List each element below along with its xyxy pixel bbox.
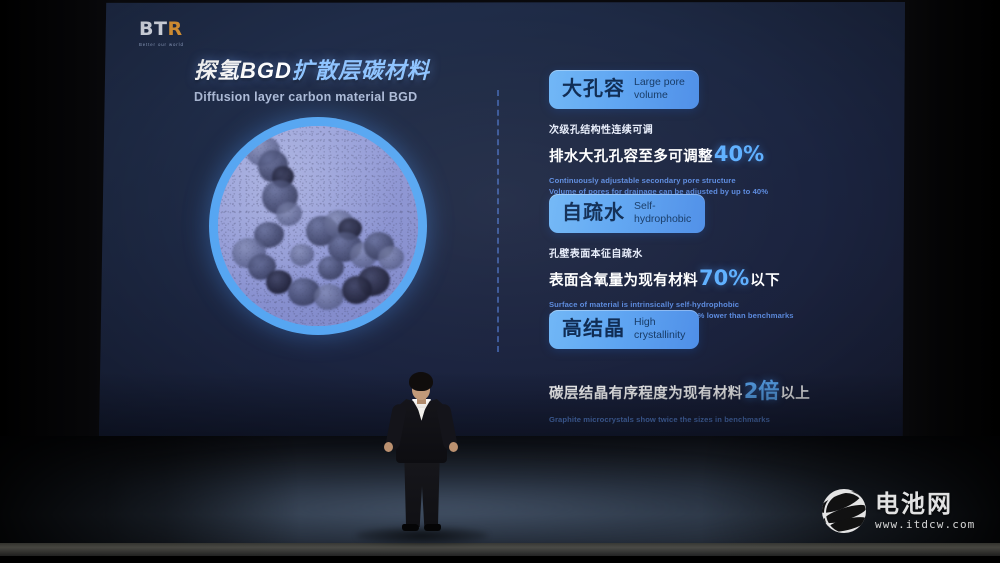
title-cn-part1: 探氢 [194, 58, 240, 83]
watermark-name: 电池网 [875, 493, 975, 517]
presenter-hair [409, 372, 433, 391]
globe-icon [822, 489, 866, 533]
stage-front-edge-shadow [0, 556, 1000, 563]
feature-en-line1: Surface of material is intrinsically sel… [549, 299, 901, 310]
feature-card-self-hydrophobic: 自疏水 Self- hydrophobic 孔壁表面本征自疏水 表面含氧量为现有… [549, 194, 901, 321]
title-cn-part3: 扩散层碳材料 [292, 58, 430, 83]
feature-pill-cn: 大孔容 [562, 79, 625, 99]
feature-pill-cn: 高结晶 [562, 319, 625, 339]
slide-title-block: 探氢BGD扩散层碳材料 Diffusion layer carbon mater… [194, 60, 430, 104]
feature-headline-suffix: 以上 [780, 382, 810, 403]
feature-subhead-cn: 次级孔结构性连续可调 [549, 121, 901, 136]
feature-headline-prefix: 表面含氧量为现有材料 [549, 269, 698, 290]
feature-headline-cn: 表面含氧量为现有材料 70% 以下 [549, 266, 901, 290]
presenter-shadow [356, 527, 488, 544]
feature-pill-cn: 自疏水 [562, 203, 625, 223]
btr-logo: BTR Better our world [139, 20, 184, 47]
feature-pill[interactable]: 大孔容 Large pore volume [549, 70, 699, 109]
feature-pill[interactable]: 高结晶 High crystallinity [549, 310, 699, 349]
presenter-shoe-left [402, 524, 419, 531]
vertical-dashed-divider [497, 90, 499, 352]
globe-ring [824, 491, 866, 533]
presenter [378, 372, 464, 540]
feature-headline-prefix: 碳层结晶有序程度为现有材料 [549, 382, 743, 403]
feature-pill-en: Self- hydrophobic [634, 200, 691, 226]
projection-screen: BTR Better our world 探氢BGD扩散层碳材料 Diffusi… [99, 2, 905, 442]
feature-headline-number: 70% [699, 266, 749, 290]
feature-card-high-crystallinity: 高结晶 High crystallinity 碳层结晶有序程度为现有材料 2倍 … [549, 310, 901, 425]
logo-tagline: Better our world [139, 42, 184, 47]
micrograph-image [218, 126, 418, 326]
micrograph-circle [209, 117, 427, 335]
presenter-shoe-right [424, 524, 441, 531]
feature-headline-cn: 碳层结晶有序程度为现有材料 2倍 以上 [549, 375, 901, 405]
slide-title-en: Diffusion layer carbon material BGD [194, 90, 430, 104]
feature-headline-suffix: 以下 [750, 269, 780, 290]
presenter-hand-left [384, 442, 393, 452]
logo-text: BT [139, 18, 167, 40]
watermark: 电池网 www.itdcw.com [822, 489, 975, 533]
feature-headline-cn: 排水大孔孔容至多可调整 40% [549, 142, 901, 166]
feature-pill-en: Large pore volume [634, 76, 685, 102]
feature-card-large-pore-volume: 大孔容 Large pore volume 次级孔结构性连续可调 排水大孔孔容至… [549, 70, 901, 197]
title-cn-part2: BGD [240, 58, 292, 83]
feature-headline-number: 40% [714, 142, 764, 166]
feature-pill-en: High crystallinity [634, 316, 685, 342]
feature-headline-prefix: 排水大孔孔容至多可调整 [549, 145, 713, 166]
presenter-hand-right [449, 442, 458, 452]
feature-subhead-cn: 孔壁表面本征自疏水 [549, 245, 901, 260]
logo-wordmark: BTR [139, 20, 184, 39]
logo-accent-letter: R [167, 18, 182, 40]
watermark-url: www.itdcw.com [875, 519, 975, 530]
watermark-text: 电池网 www.itdcw.com [875, 493, 975, 530]
feature-pill[interactable]: 自疏水 Self- hydrophobic [549, 194, 705, 233]
feature-en-line1: Continuously adjustable secondary pore s… [549, 175, 901, 186]
feature-headline-number: 2倍 [744, 375, 780, 405]
feature-en-block: Graphite microcrystals show twice the si… [549, 414, 901, 425]
stage-scene: BTR Better our world 探氢BGD扩散层碳材料 Diffusi… [0, 0, 1000, 563]
feature-en-line1: Graphite microcrystals show twice the si… [549, 414, 901, 425]
slide-title-cn: 探氢BGD扩散层碳材料 [194, 60, 430, 82]
